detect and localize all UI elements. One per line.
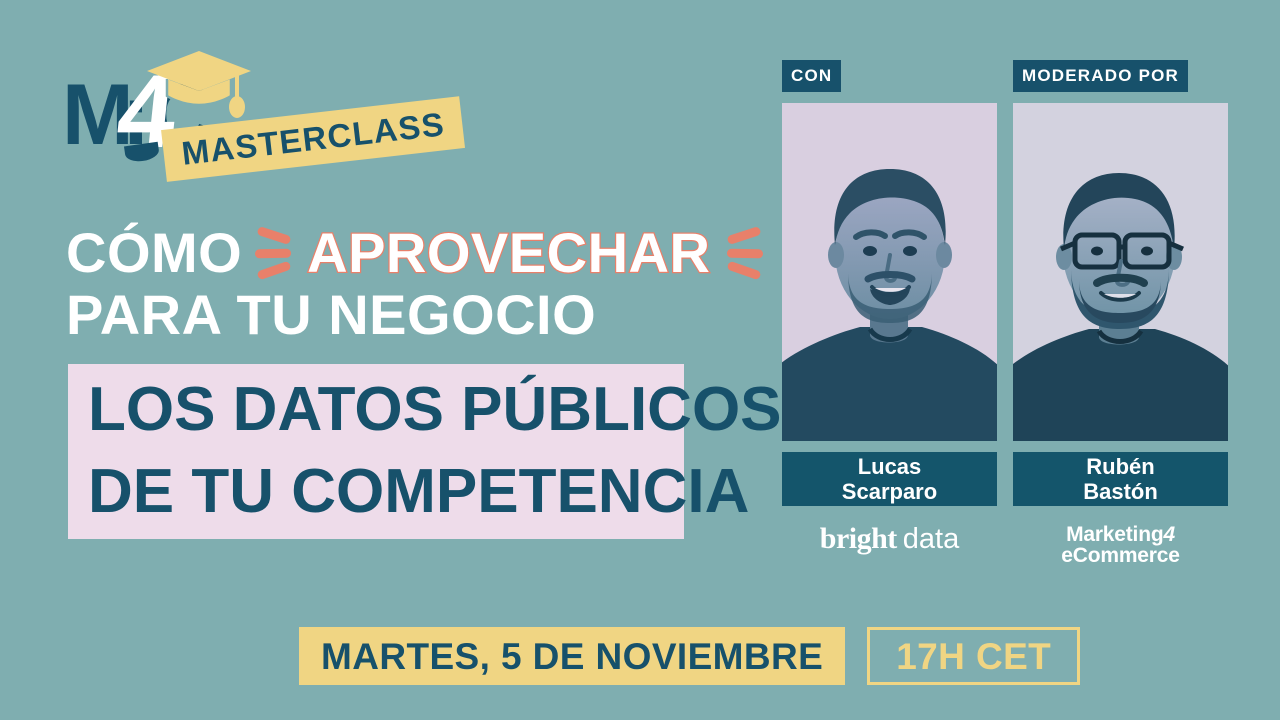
brand-bright-data: brightdata [782,522,997,556]
headline: CÓMO APROVECHAR PARA TU NEGOCIO [66,222,716,346]
event-date-pill: MARTES, 5 DE NOVIEMBRE [299,627,845,685]
headline-line-1: CÓMO APROVECHAR [66,222,716,284]
role-badge-moderado-por: MODERADO POR [1013,60,1188,92]
event-datetime-bar: MARTES, 5 DE NOVIEMBRE 17H CET [299,627,1080,685]
brand-m4e-line-2: eCommerce [1013,545,1228,566]
title-box: LOS DATOS PÚBLICOS DE TU COMPETENCIA [68,364,684,539]
event-date-label: MARTES, 5 DE NOVIEMBRE [321,638,823,675]
burst-left-icon [247,222,303,284]
speaker-card-lucas-scarparo: CON [782,60,997,556]
nameplate-lucas-scarparo: Lucas Scarparo [782,452,997,506]
brand-four-glyph: 4 [1163,523,1174,546]
headline-line-2: PARA TU NEGOCIO [66,284,716,346]
graduation-cap-icon [145,49,253,119]
brand-marketing4ecommerce: Marketing4 eCommerce [1013,522,1228,564]
speaker-name: Rubén Bastón [1083,454,1158,504]
title-line-1: LOS DATOS PÚBLICOS [68,364,684,451]
event-time-label: 17H CET [896,638,1051,675]
event-time-pill: 17H CET [867,627,1080,685]
nameplate-ruben-baston: Rubén Bastón [1013,452,1228,506]
brand-marketing-word: Marketing [1066,523,1163,546]
speaker-card-ruben-baston: MODERADO POR [1013,60,1228,564]
headline-word-aprovechar: APROVECHAR [307,222,710,284]
headline-subline: PARA TU NEGOCIO [66,284,596,346]
brand-data-word: data [903,523,959,555]
webinar-poster: M:C 4 MASTERCLASS CÓMO APROVECHAR PARA T… [0,0,1280,720]
brand-logo: M:C 4 MASTERCLASS [62,52,402,197]
speaker-name: Lucas Scarparo [842,454,937,504]
brand-m4e-line-1: Marketing4 [1013,524,1228,545]
headline-word-como: CÓMO [66,222,242,284]
brand-bright-word: bright [820,522,897,555]
burst-right-icon [715,222,771,284]
role-badge-con: CON [782,60,841,92]
portrait-lucas-scarparo [782,103,997,441]
title-line-2: DE TU COMPETENCIA [68,451,684,533]
portrait-ruben-baston [1013,103,1228,441]
